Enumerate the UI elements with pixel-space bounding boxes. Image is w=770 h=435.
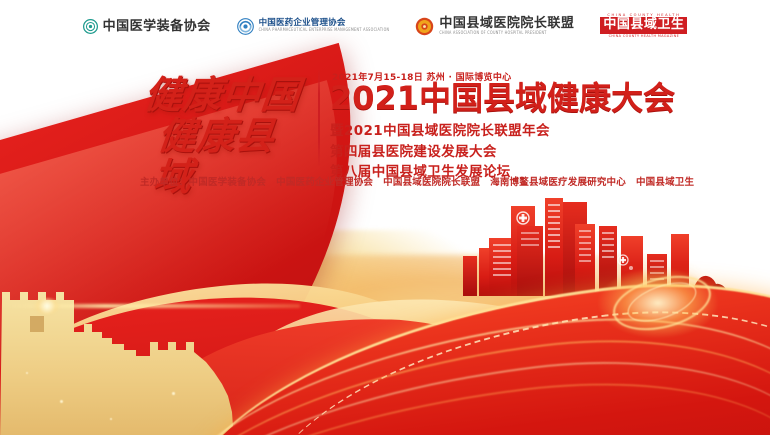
glowing-road — [153, 253, 770, 435]
logo-china-association-medical-equipment[interactable]: 中国医学装备协会 — [83, 19, 211, 34]
vertical-divider — [318, 70, 320, 166]
sparkle-dot — [110, 418, 112, 420]
red-wave-1 — [0, 278, 468, 435]
glow-swirl-ring — [623, 275, 702, 330]
organizer-name: 中国医学装备协会 — [189, 177, 267, 188]
logo-name-en: CHINA PHARMACEUTICAL ENTERPRISE MANAGEME… — [259, 29, 390, 33]
page-title: 2021中国县域健康大会 — [330, 82, 675, 114]
light-beam — [0, 304, 300, 308]
road-edge-glow — [151, 251, 770, 435]
light-streak — [117, 332, 770, 435]
light-streak — [126, 310, 770, 435]
gold-wash — [0, 230, 520, 435]
logo-china-county-health[interactable]: CHINA COUNTY HEALTH 中国县域卫生 CHINA COUNTY … — [600, 14, 687, 39]
logo-name-en: CHINA ASSOCIATION OF COUNTY HOSPITAL PRE… — [439, 31, 574, 35]
glow-swirl — [598, 268, 718, 338]
sparkle-dot — [26, 372, 28, 374]
logo-name-cn: 中国医药企业管理协会 — [259, 19, 390, 28]
organizers-line: 主办单位：中国医学装备协会中国医药企业管理协会中国县域医院院长联盟海南博鳌县域医… — [140, 174, 694, 188]
sparkle-dot — [172, 392, 175, 395]
calligraphy-line-1: 健康中国 — [142, 72, 303, 117]
logo-name-cn: 中国县域医院院长联盟 — [439, 17, 574, 30]
organizer-name: 中国医药企业管理协会 — [276, 177, 373, 188]
organizers-label: 主办单位： — [140, 177, 189, 188]
logo-name-cn: 中国县域卫生 — [600, 17, 687, 34]
wordmark-icon: CHINA COUNTY HEALTH 中国县域卫生 CHINA COUNTY … — [600, 14, 687, 39]
glow-swirl-ring — [607, 267, 716, 340]
gold-wave-2 — [227, 289, 653, 435]
light-streak — [135, 288, 770, 435]
logo-name-cn: 中国医学装备协会 — [103, 20, 211, 33]
circle-sun-icon — [415, 17, 434, 36]
sparkle-dot — [60, 400, 63, 403]
road-lane-dashes — [234, 282, 770, 435]
gold-wash-secondary — [180, 255, 700, 435]
light-beam-source — [34, 298, 60, 314]
logo-name-en: CHINA COUNTY HEALTH MAGAZINE — [600, 35, 687, 38]
partner-logo-bar: 中国医学装备协会 中国医药企业管理协会 CHINA PHARMACEUTICAL… — [0, 0, 770, 52]
logo-china-association-county-hospital-president[interactable]: 中国县域医院院长联盟 CHINA ASSOCIATION OF COUNTY H… — [415, 17, 574, 36]
subtitle-line: 第四届县医院建设发展大会 — [330, 142, 550, 163]
conference-banner: 中国医学装备协会 中国医药企业管理协会 CHINA PHARMACEUTICAL… — [0, 0, 770, 435]
background-artwork — [0, 0, 770, 435]
great-wall-icon — [0, 272, 300, 435]
organizer-name: 中国县域卫生 — [636, 177, 694, 188]
circle-swirl-icon — [237, 18, 254, 35]
red-wave-2 — [127, 311, 563, 435]
city-skyline-icon — [455, 196, 755, 316]
light-streak — [108, 354, 770, 435]
organizer-name: 海南博鳌县域医疗发展研究中心 — [490, 177, 626, 188]
organizer-name: 中国县域医院院长联盟 — [383, 177, 480, 188]
circle-ring-icon — [83, 19, 98, 34]
subtitle-line: 暨2021中国县域医院院长联盟年会 — [330, 121, 550, 142]
logo-china-pharmaceutical-enterprise-management-association[interactable]: 中国医药企业管理协会 CHINA PHARMACEUTICAL ENTERPRI… — [237, 18, 390, 35]
gold-wave-1 — [0, 264, 447, 435]
